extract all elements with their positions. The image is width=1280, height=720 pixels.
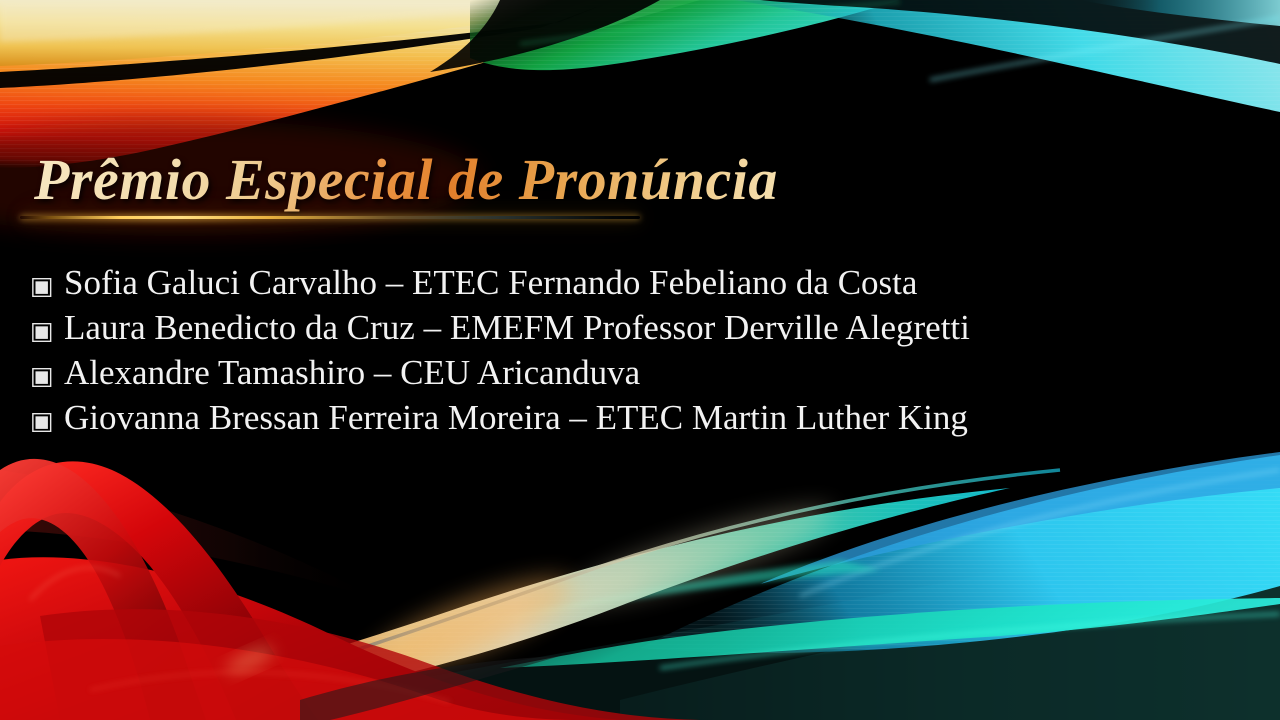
top-ribbons <box>0 0 700 168</box>
presentation-slide: Prêmio Especial de Pronúncia ▣ Sofia Gal… <box>0 0 1280 720</box>
list-item: ▣ Giovanna Bressan Ferreira Moreira – ET… <box>30 397 1260 442</box>
square-bullet-icon: ▣ <box>30 359 64 393</box>
list-item-label: Giovanna Bressan Ferreira Moreira – ETEC… <box>64 397 968 439</box>
award-recipients-list: ▣ Sofia Galuci Carvalho – ETEC Fernando … <box>30 262 1260 442</box>
bottom-ribbons <box>0 452 1280 720</box>
list-item: ▣ Sofia Galuci Carvalho – ETEC Fernando … <box>30 262 1260 307</box>
list-item-label: Laura Benedicto da Cruz – EMEFM Professo… <box>64 307 970 349</box>
title-block: Prêmio Especial de Pronúncia <box>34 148 1234 228</box>
list-item-label: Sofia Galuci Carvalho – ETEC Fernando Fe… <box>64 262 917 304</box>
page-title: Prêmio Especial de Pronúncia <box>34 148 1234 212</box>
square-bullet-icon: ▣ <box>30 404 64 438</box>
top-green-cyan-ribbons <box>430 0 1280 112</box>
square-bullet-icon: ▣ <box>30 269 64 303</box>
title-underline-divider <box>20 216 640 219</box>
square-bullet-icon: ▣ <box>30 314 64 348</box>
list-item: ▣ Laura Benedicto da Cruz – EMEFM Profes… <box>30 307 1260 352</box>
list-item-label: Alexandre Tamashiro – CEU Aricanduva <box>64 352 640 394</box>
list-item: ▣ Alexandre Tamashiro – CEU Aricanduva <box>30 352 1260 397</box>
